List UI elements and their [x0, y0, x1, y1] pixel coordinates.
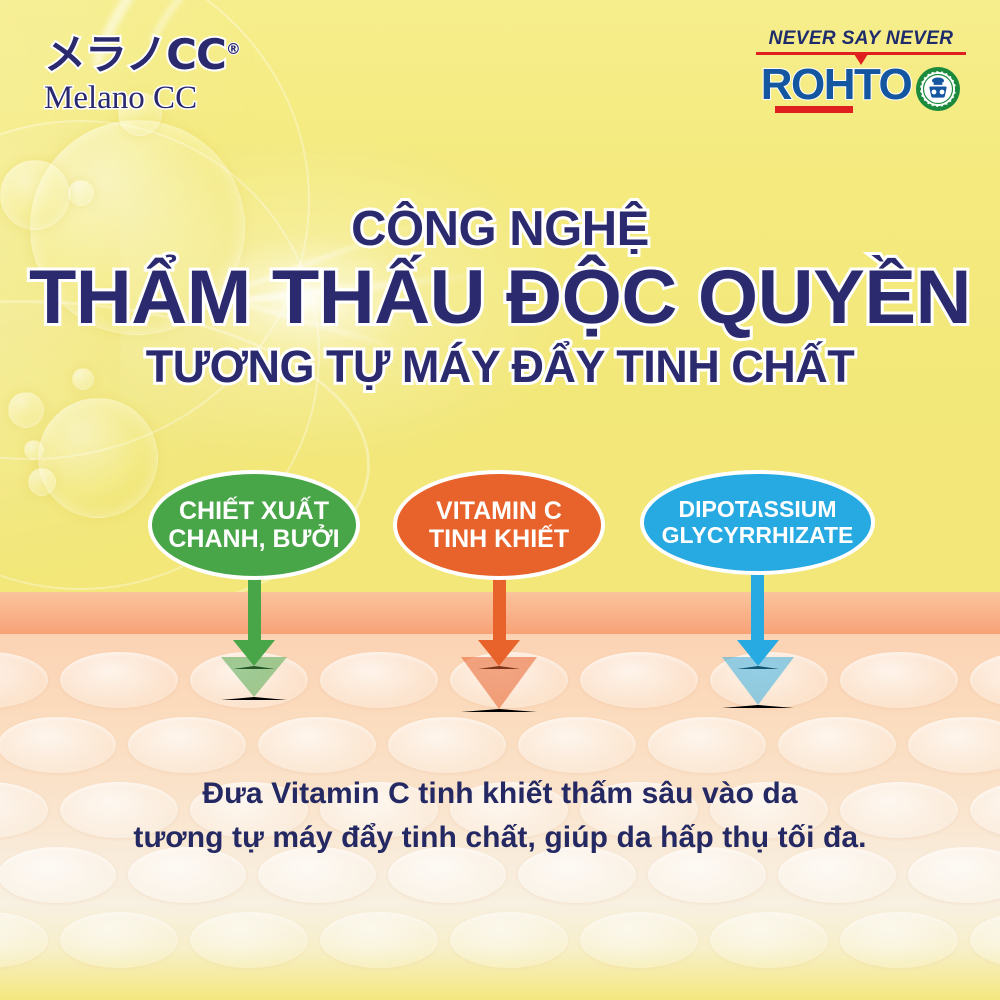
headline-line-2: THẨM THẤU ĐỘC QUYỀN — [0, 259, 1000, 337]
ingredient-pill-lemon-pomelo[interactable]: CHIẾT XUẤT CHANH, BƯỞI — [148, 470, 360, 580]
rohto-wordmark: ROHTO — [761, 65, 912, 105]
penetration-arrow-blue — [722, 562, 794, 708]
bubble-shape — [68, 180, 94, 206]
skin-cell — [970, 912, 1000, 968]
caption-line-2: tương tự máy đẩy tinh chất, giúp da hấp … — [0, 816, 1000, 860]
skin-cell — [190, 912, 308, 968]
ingredient-pill-dipotassium[interactable]: DIPOTASSIUM GLYCYRRHIZATE — [640, 470, 875, 575]
bubble-shape — [24, 440, 44, 460]
ingredient-label: CHIẾT XUẤT CHANH, BƯỞI — [158, 497, 349, 553]
skin-cell — [0, 912, 48, 968]
ingredient-label: DIPOTASSIUM GLYCYRRHIZATE — [652, 497, 864, 549]
skin-cell — [710, 912, 828, 968]
rohto-seal-icon — [915, 66, 961, 112]
melano-kana-text: メラノCC — [44, 30, 226, 79]
skin-cell — [320, 912, 438, 968]
rohto-wordmark-wrap: ROHTO — [761, 65, 912, 113]
skin-cell-row — [0, 912, 1000, 968]
down-arrow-icon — [221, 657, 287, 700]
bubble-shape — [8, 392, 44, 428]
rohto-logo: NEVER SAY NEVER ROHTO — [756, 28, 966, 113]
melano-logo-roman: Melano CC — [44, 80, 304, 118]
headline-block: CÔNG NGHỆ THẨM THẤU ĐỘC QUYỀN TƯƠNG TỰ M… — [0, 205, 1000, 390]
ingredient-group-lemon-pomelo: CHIẾT XUẤT CHANH, BƯỞI — [148, 470, 360, 580]
ingredient-group-dipotassium: DIPOTASSIUM GLYCYRRHIZATE — [640, 470, 875, 575]
skin-cell — [60, 912, 178, 968]
ingredient-group-vitamin-c: VITAMIN C TINH KHIẾT — [393, 470, 605, 580]
ingredient-row: CHIẾT XUẤT CHANH, BƯỞI VITAMIN C TINH KH… — [0, 470, 1000, 770]
skin-cell — [840, 912, 958, 968]
registered-trademark-icon: ® — [226, 40, 240, 58]
penetration-arrow-green — [221, 562, 287, 700]
ingredient-pill-vitamin-c[interactable]: VITAMIN C TINH KHIẾT — [393, 470, 605, 580]
down-arrow-icon — [461, 657, 537, 712]
rohto-tagline: NEVER SAY NEVER — [756, 28, 966, 50]
promo-poster: メラノCC® Melano CC NEVER SAY NEVER ROHTO — [0, 0, 1000, 1000]
caption-line-1: Đưa Vitamin C tinh khiết thấm sâu vào da — [0, 772, 1000, 816]
penetration-arrow-orange — [461, 562, 537, 712]
headline-line-1: CÔNG NGHỆ — [0, 205, 1000, 255]
rohto-wordmark-group: ROHTO — [756, 65, 966, 113]
headline-line-3: TƯƠNG TỰ MÁY ĐẨY TINH CHẤT — [0, 344, 1000, 390]
melano-cc-logo: メラノCC® Melano CC — [44, 34, 304, 118]
ingredient-label: VITAMIN C TINH KHIẾT — [419, 497, 579, 553]
skin-cell — [450, 912, 568, 968]
caption-block: Đưa Vitamin C tinh khiết thấm sâu vào da… — [0, 772, 1000, 859]
down-arrow-icon — [722, 657, 794, 708]
skin-cell — [580, 912, 698, 968]
melano-logo-kana: メラノCC® — [44, 34, 304, 76]
rohto-tagline-rule — [756, 52, 966, 55]
